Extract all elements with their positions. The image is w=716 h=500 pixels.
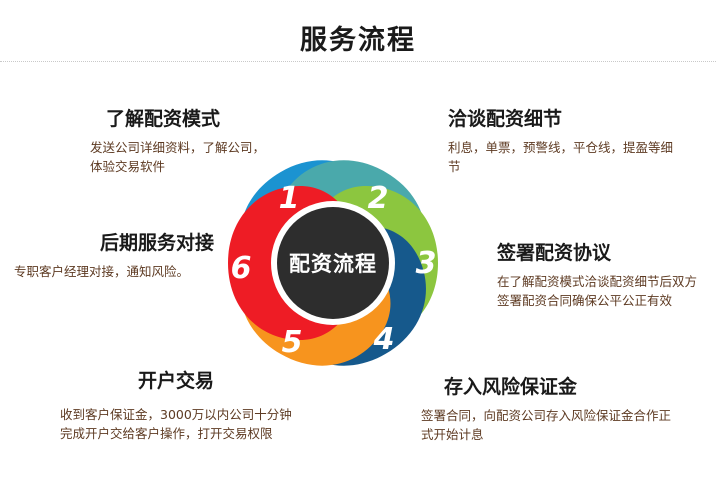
step-4-title: 存入风险保证金 [444,376,691,399]
step-5-description: 收到客户保证金，3000万以内公司十分钟完成开户交给客户操作，打开交易权限 [60,405,292,444]
step-2-description: 利息，单票，预警线，平仓线，提盈等细节 [448,138,676,177]
page-title: 服务流程 [0,18,716,57]
wheel-petal-4-number: 4 [373,322,395,357]
wheel-petal-3-number: 3 [416,246,437,281]
step-1-description: 发送公司详细资料，了解公司，体验交易软件 [90,138,266,177]
wheel-petal-6-number: 6 [231,251,252,286]
infographic-page: 服务流程 [0,0,716,500]
step-3-description: 在了解配资模式洽谈配资细节后双方签署配资合同确保公平公正有效 [497,272,697,311]
step-5-title: 开户交易 [138,370,296,393]
step-3-title: 签署配资协议 [497,242,707,265]
page-header: 服务流程 [0,0,716,62]
step-4-description: 签署合同，向配资公司存入风险保证金合作正式开始计息 [421,406,671,445]
step-callout-1[interactable]: 了解配资模式 发送公司详细资料，了解公司，体验交易软件 [58,108,263,177]
wheel-hub-label: 配资流程 [289,252,377,276]
step-callout-6[interactable]: 后期服务对接 专职客户经理对接，通知风险。 [14,232,214,281]
wheel-petal-2-number: 2 [368,181,389,216]
step-callout-5[interactable]: 开户交易 收到客户保证金，3000万以内公司十分钟完成开户交给客户操作，打开交易… [60,370,296,444]
step-1-title: 了解配资模式 [106,108,263,131]
wheel-petal-5-number: 5 [282,325,303,360]
step-callout-4[interactable]: 存入风险保证金 签署合同，向配资公司存入风险保证金合作正式开始计息 [421,376,691,445]
step-callout-3[interactable]: 签署配资协议 在了解配资模式洽谈配资细节后双方签署配资合同确保公平公正有效 [497,242,707,311]
step-6-title: 后期服务对接 [14,232,214,255]
wheel-petal-1-number: 1 [279,181,300,216]
title-divider [0,61,716,62]
step-2-title: 洽谈配资细节 [448,108,688,131]
step-6-description: 专职客户经理对接，通知风险。 [14,262,210,281]
step-callout-2[interactable]: 洽谈配资细节 利息，单票，预警线，平仓线，提盈等细节 [448,108,688,177]
